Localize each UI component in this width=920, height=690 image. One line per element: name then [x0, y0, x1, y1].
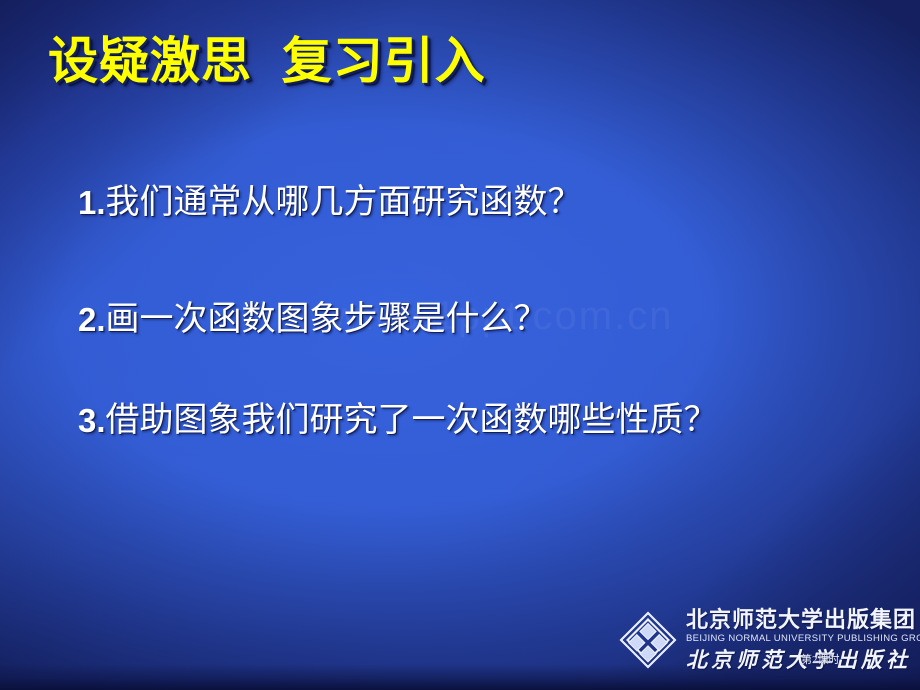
slide-title: 设疑激思 复习引入 — [48, 31, 486, 91]
question-number: 1. — [78, 180, 106, 225]
list-item: 2. 画一次函数图象步骤是什么？ — [78, 297, 778, 342]
question-text: 画一次函数图象步骤是什么？ — [106, 297, 778, 342]
diamond-emblem-icon — [618, 610, 678, 670]
question-number: 2. — [78, 297, 106, 342]
question-number: 3. — [78, 398, 106, 443]
slide-stamp-text: 第2课时 — [801, 654, 840, 666]
publisher-logo: 北京师范大学出版集团 BEIJING NORMAL UNIVERSITY PUB… — [618, 598, 908, 682]
question-text: 借助图象我们研究了一次函数哪些性质？ — [106, 398, 778, 443]
publisher-name-cn: 北京师范大学出版集团 — [686, 607, 920, 632]
publisher-name-en: BEIJING NORMAL UNIVERSITY PUBLISHING GRO… — [686, 633, 920, 645]
question-text: 我们通常从哪几方面研究函数？ — [106, 180, 778, 225]
question-list: 1. 我们通常从哪几方面研究函数？ 2. 画一次函数图象步骤是什么？ 3. 借助… — [78, 180, 778, 443]
list-item: 3. 借助图象我们研究了一次函数哪些性质？ — [78, 398, 778, 443]
list-item: 1. 我们通常从哪几方面研究函数？ — [78, 180, 778, 225]
slide-canvas: www.1ppt.com.cn 设疑激思 复习引入 1. 我们通常从哪几方面研究… — [0, 0, 920, 690]
